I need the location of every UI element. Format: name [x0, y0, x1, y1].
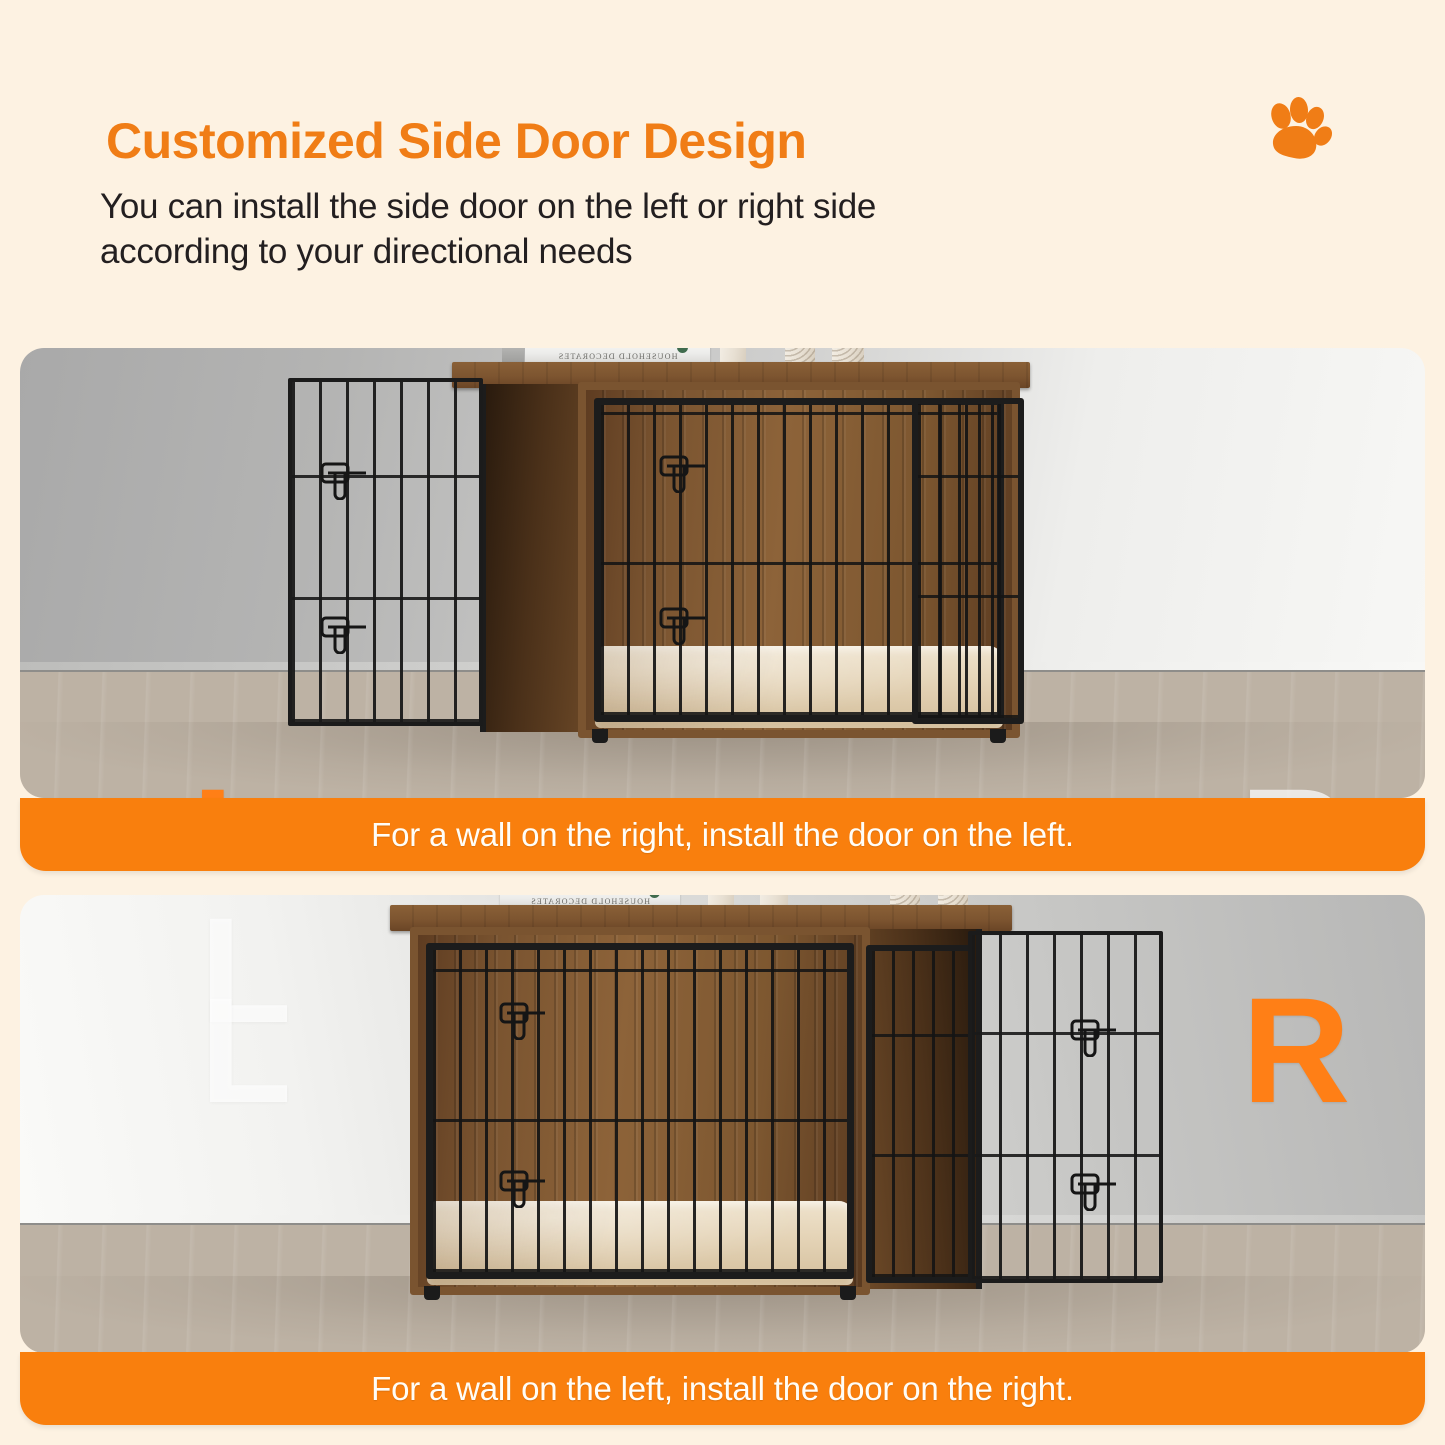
product-photo-panel-right-door: L L R CHRISTIANE HOUSEHOLD DECORATES: [20, 895, 1425, 1353]
crate-front-frame: [410, 927, 870, 1295]
caption-bar-panel-2: For a wall on the left, install the door…: [20, 1352, 1425, 1425]
dog-crate-furniture: [400, 905, 1000, 1325]
door-latch-bottom-icon[interactable]: [657, 605, 709, 645]
caption-text: For a wall on the right, install the doo…: [371, 816, 1074, 854]
side-label-right: R: [1240, 766, 1348, 798]
side-door-latch-bottom-icon[interactable]: [318, 614, 370, 654]
header: Customized Side Door Design You can inst…: [0, 0, 1445, 348]
product-photo-panel-left-door: L R CHRISTIANE HOUSEHOLD DECORATES: [20, 348, 1425, 798]
side-door-latch-bottom-icon[interactable]: [1068, 1171, 1120, 1211]
side-label-left: L: [192, 766, 284, 798]
crate-side-wire-wall: [912, 398, 1024, 724]
caption-text: For a wall on the left, install the door…: [371, 1370, 1074, 1408]
crate-side-wire-wall: [866, 945, 974, 1283]
door-latch-top-icon[interactable]: [497, 1000, 549, 1040]
door-latch-top-icon[interactable]: [657, 453, 709, 493]
crate-front-wire-door[interactable]: [426, 943, 854, 1279]
page-title: Customized Side Door Design: [106, 112, 806, 170]
subtitle-line-1: You can install the side door on the lef…: [100, 185, 876, 230]
side-label-left-ghost: L: [200, 975, 292, 1125]
door-latch-bottom-icon[interactable]: [497, 1168, 549, 1208]
side-label-right: R: [1242, 975, 1350, 1125]
removable-side-door-left[interactable]: [288, 378, 483, 726]
crate-open-side-interior: [480, 384, 590, 732]
dog-crate-furniture: [460, 362, 1020, 762]
room-photo: L R CHRISTIANE HOUSEHOLD DECORATES: [20, 348, 1425, 798]
caption-bar-panel-1: For a wall on the right, install the doo…: [20, 798, 1425, 871]
room-photo: L L R CHRISTIANE HOUSEHOLD DECORATES: [20, 895, 1425, 1353]
removable-side-door-right[interactable]: [968, 931, 1163, 1283]
side-door-latch-top-icon[interactable]: [1068, 1017, 1120, 1057]
paw-print-icon: [1258, 90, 1338, 170]
side-door-latch-top-icon[interactable]: [318, 460, 370, 500]
page-subtitle: You can install the side door on the lef…: [100, 185, 876, 275]
subtitle-line-2: according to your directional needs: [100, 230, 876, 275]
